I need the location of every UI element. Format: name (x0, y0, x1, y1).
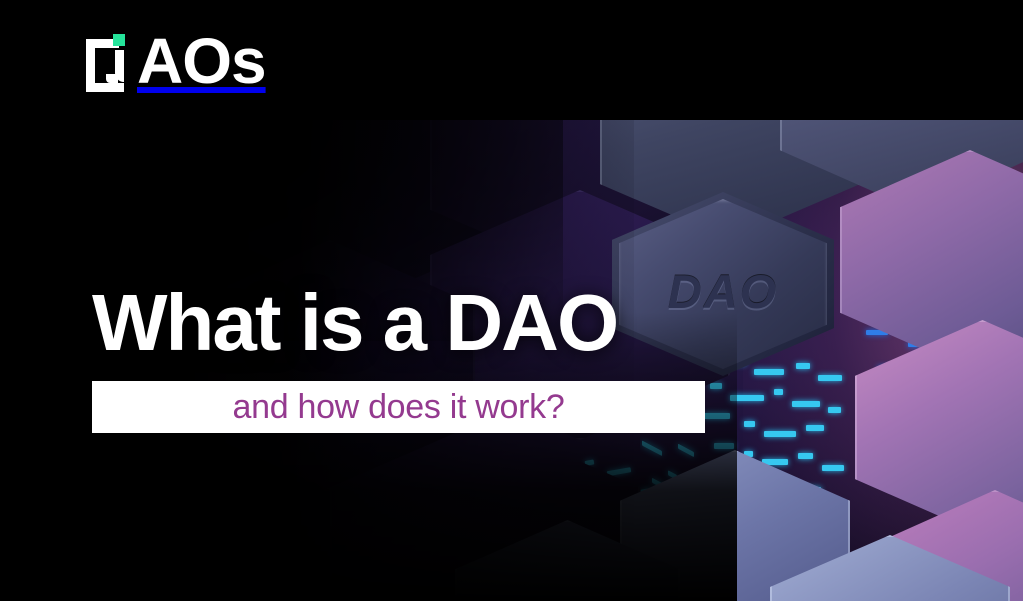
hero-background: DAO What is a DAO and how does it work? (0, 120, 1023, 601)
subtitle-bar: and how does it work? (92, 381, 705, 433)
subtitle-text: and how does it work? (232, 388, 564, 427)
site-header: AOs (0, 0, 1023, 120)
site-logo[interactable]: AOs (86, 28, 266, 98)
page-title: What is a DAO (92, 282, 617, 364)
site-logo-text: AOs (137, 28, 266, 94)
dao-tile-label: DAO (612, 264, 834, 319)
logo-d-bottom-bar (86, 83, 124, 92)
logo-d-hook-foot (106, 74, 118, 83)
page-root: DAO What is a DAO and how does it work? … (0, 0, 1023, 601)
dao-logo-mark-icon (86, 30, 134, 94)
logo-green-accent-square (113, 34, 125, 46)
